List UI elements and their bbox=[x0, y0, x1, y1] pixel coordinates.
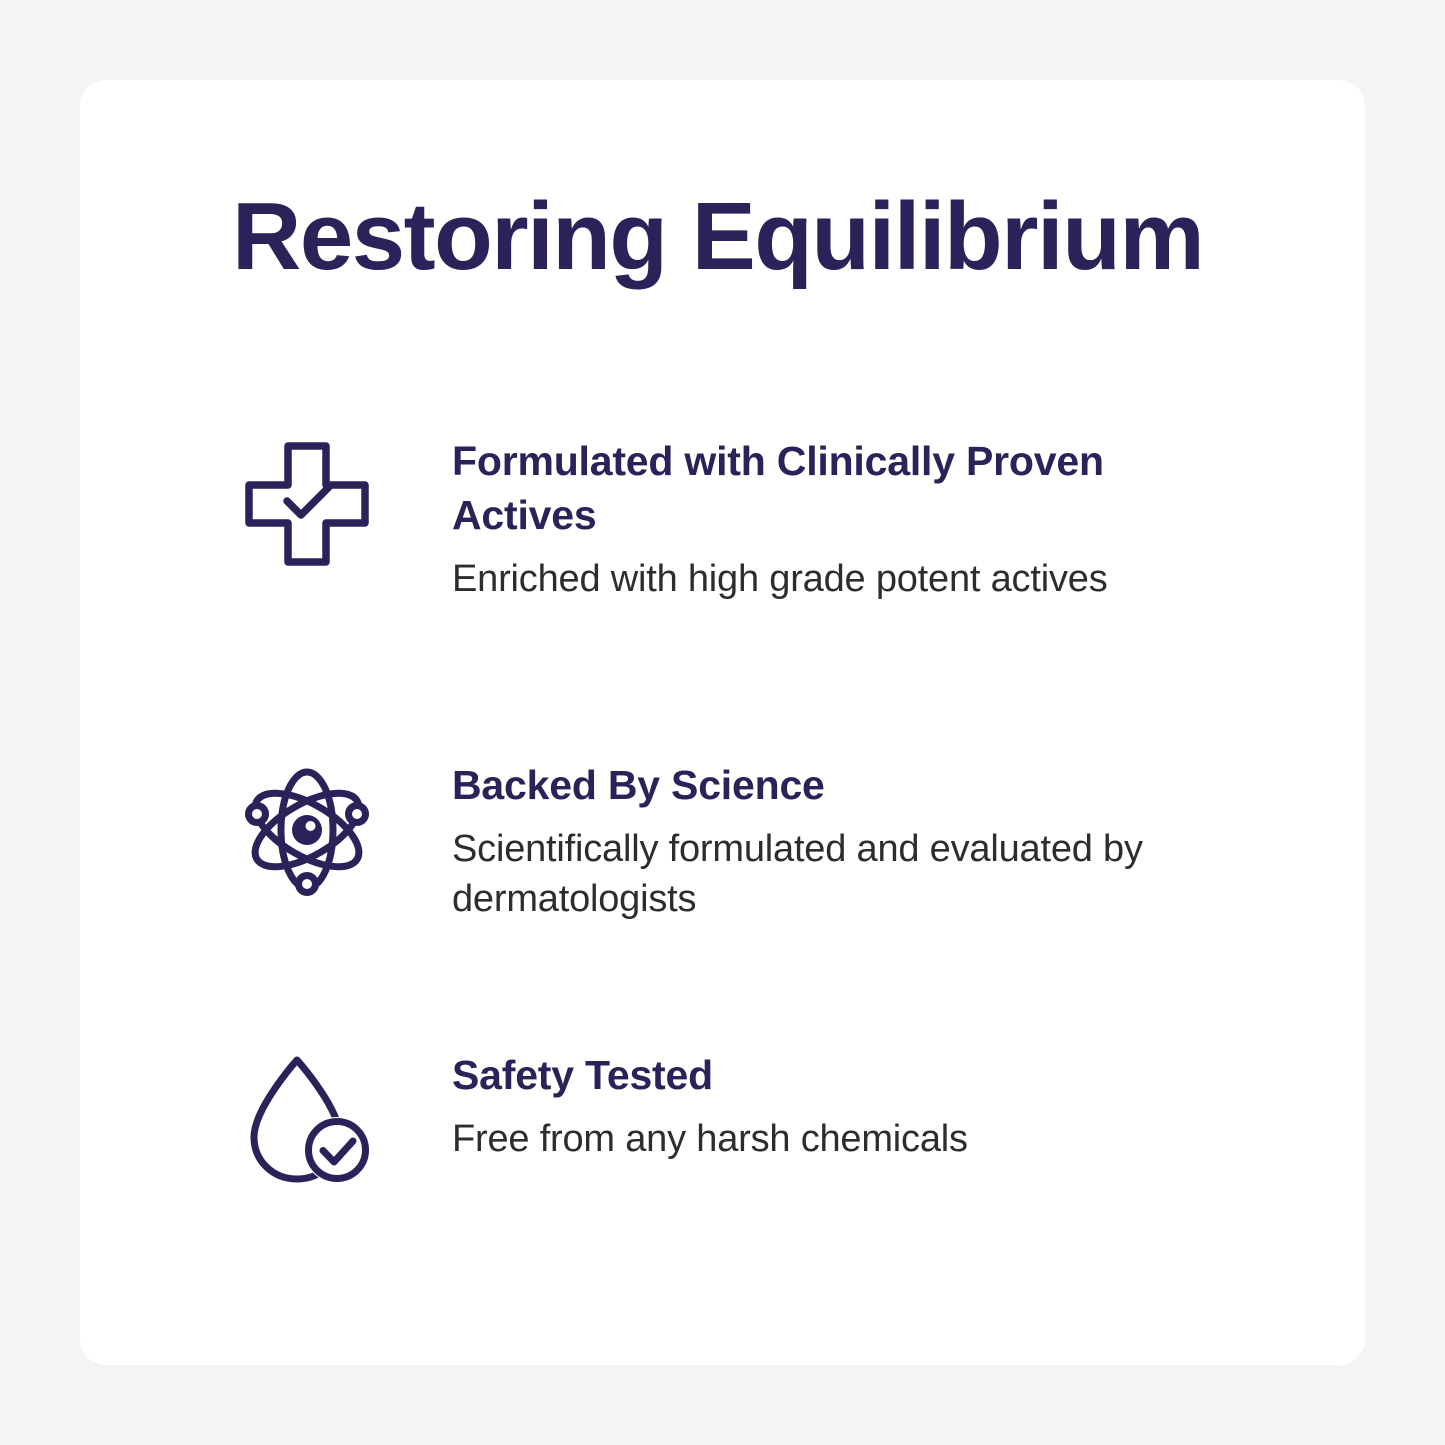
feature-heading: Backed By Science bbox=[452, 758, 1212, 812]
feature-text-block: Backed By Science Scientifically formula… bbox=[452, 754, 1292, 924]
feature-description: Enriched with high grade potent actives bbox=[452, 554, 1212, 604]
feature-item: Backed By Science Scientifically formula… bbox=[232, 754, 1292, 924]
feature-text-block: Formulated with Clinically Proven Active… bbox=[452, 430, 1292, 604]
feature-item: Formulated with Clinically Proven Active… bbox=[232, 430, 1292, 604]
feature-heading: Formulated with Clinically Proven Active… bbox=[452, 434, 1212, 542]
content-card: Restoring Equilibrium Formulated with Cl… bbox=[80, 80, 1365, 1365]
atom-icon bbox=[232, 754, 382, 904]
feature-description: Free from any harsh chemicals bbox=[452, 1114, 1212, 1164]
feature-item: Safety Tested Free from any harsh chemic… bbox=[232, 1044, 1292, 1194]
promo-card-page: Restoring Equilibrium Formulated with Cl… bbox=[0, 0, 1445, 1445]
feature-description: Scientifically formulated and evaluated … bbox=[452, 824, 1212, 924]
medical-cross-check-icon bbox=[232, 430, 382, 580]
droplet-check-icon bbox=[232, 1044, 382, 1194]
page-title: Restoring Equilibrium bbox=[232, 185, 1232, 289]
feature-heading: Safety Tested bbox=[452, 1048, 1212, 1102]
feature-text-block: Safety Tested Free from any harsh chemic… bbox=[452, 1044, 1292, 1164]
